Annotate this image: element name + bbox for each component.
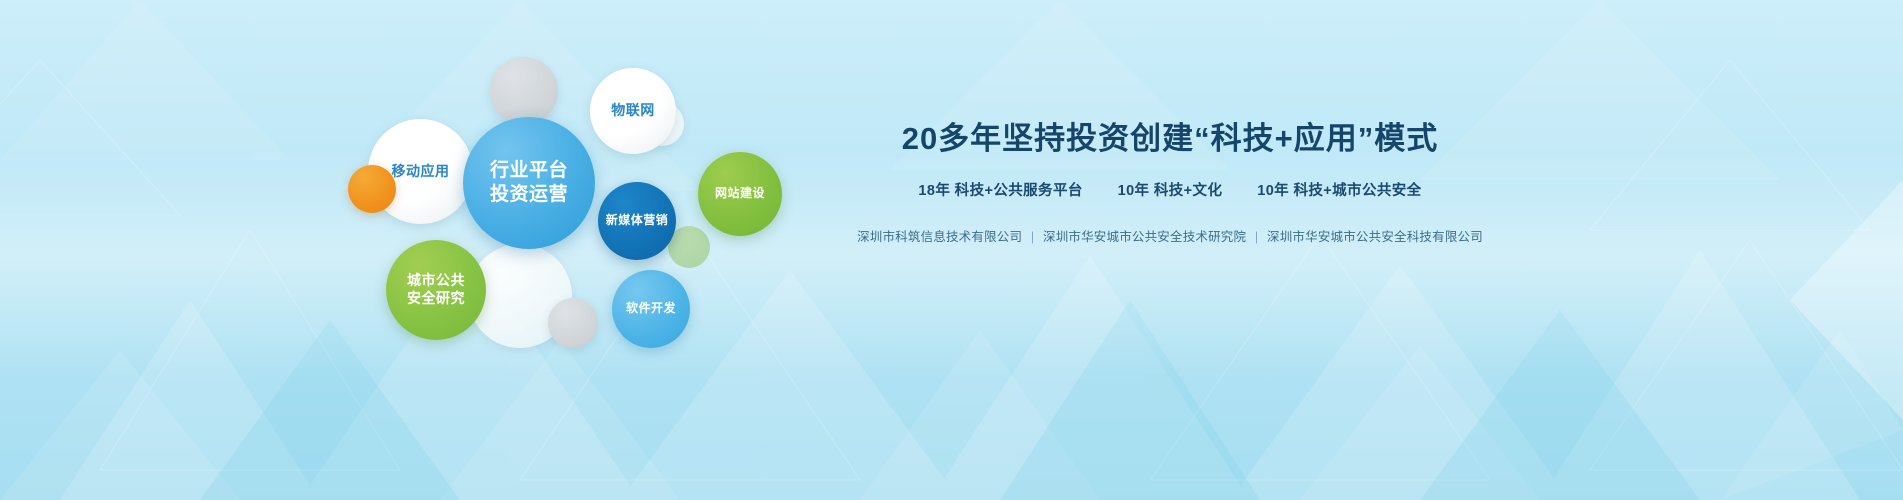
bubble-new-media-label: 新媒体营销 [606,213,669,228]
subtitle-line: 18年 科技+公共服务平台 10年 科技+文化 10年 科技+城市公共安全 [790,179,1550,200]
bubble-industry-platform-label: 行业平台 投资运营 [490,159,568,208]
organization-line: 深圳市科筑信息技术有限公司 | 深圳市华安城市公共安全技术研究院 | 深圳市华安… [790,226,1550,245]
banner-copy: 20多年坚持投资创建“科技+应用”模式 18年 科技+公共服务平台 10年 科技… [790,120,1550,245]
subtitle-item-2: 10年 科技+城市公共安全 [1257,183,1421,199]
organization-name-1: 深圳市华安城市公共安全技术研究院 [1043,230,1246,244]
bubble-cluster: 物联网 移动应用 网站建设 城市公共 安全研究 软件开发 新媒体营销 行业平台 … [0,0,820,500]
organization-name-0: 深圳市科筑信息技术有限公司 [857,230,1022,244]
page-title: 20多年坚持投资创建“科技+应用”模式 [790,120,1550,157]
bubble-website-build[interactable]: 网站建设 [698,152,782,236]
bubble-accent-orange [348,165,396,213]
bubble-website-build-label: 网站建设 [715,186,765,201]
bubble-iot-label: 物联网 [611,102,655,120]
bubble-new-media[interactable]: 新媒体营销 [598,182,676,260]
organization-name-2: 深圳市华安城市公共安全科技有限公司 [1267,230,1483,244]
bubble-mobile-app-label: 移动应用 [392,163,450,181]
bubble-urban-safety[interactable]: 城市公共 安全研究 [386,240,486,340]
bubble-accent-grey-top [490,57,558,125]
bubble-software-dev[interactable]: 软件开发 [612,270,690,348]
bubble-software-dev-label: 软件开发 [626,301,676,316]
subtitle-item-0: 18年 科技+公共服务平台 [918,183,1082,199]
bubble-urban-safety-label: 城市公共 安全研究 [407,272,465,308]
organization-separator: | [1250,230,1263,244]
hero-banner: 物联网 移动应用 网站建设 城市公共 安全研究 软件开发 新媒体营销 行业平台 … [0,0,1903,500]
bubble-industry-platform[interactable]: 行业平台 投资运营 [463,117,595,249]
subtitle-item-1: 10年 科技+文化 [1118,183,1223,199]
organization-separator: | [1026,230,1039,244]
bubble-accent-grey-bottom [548,298,598,348]
bubble-iot[interactable]: 物联网 [590,68,676,154]
